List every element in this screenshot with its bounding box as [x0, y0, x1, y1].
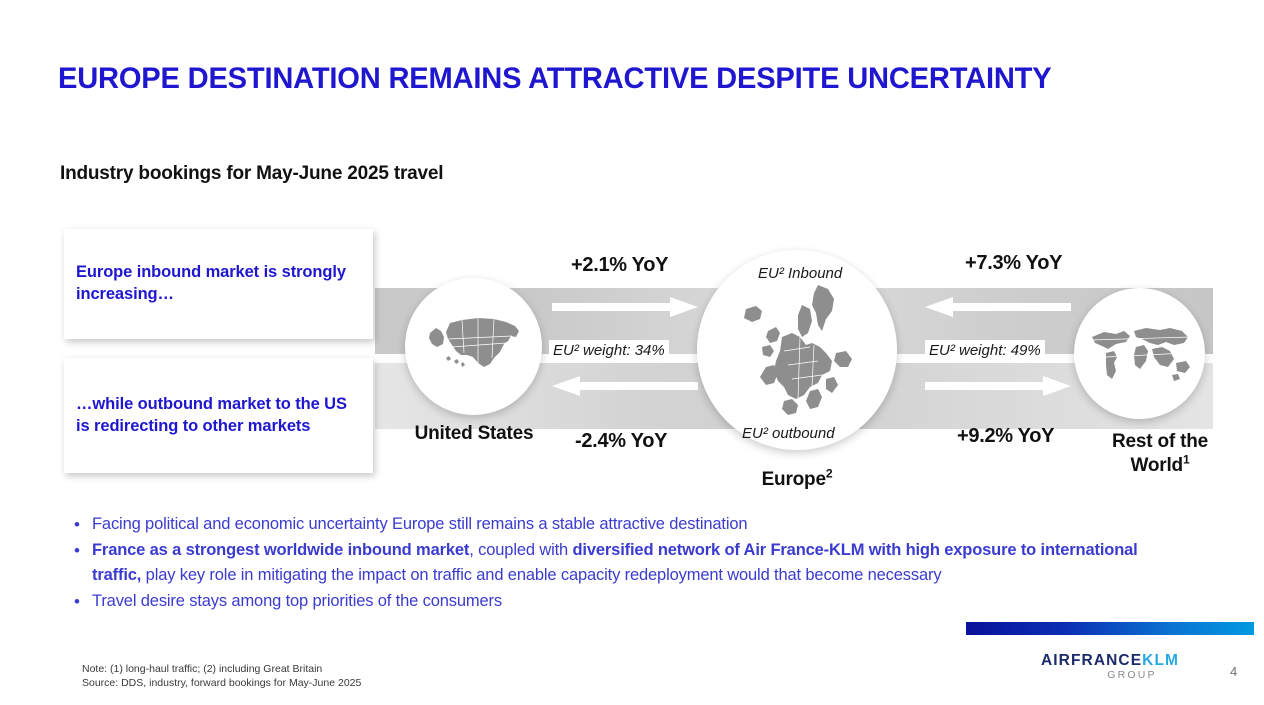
logo-airfrance-text: AIRFRANCE — [1041, 652, 1142, 669]
flow-weight-row-europe: EU² weight: 49% — [925, 340, 1045, 361]
brand-gradient-bar — [966, 622, 1254, 635]
footnote-note: Note: (1) long-haul traffic; (2) includi… — [82, 662, 361, 676]
node-label-europe-text: Europe — [762, 469, 826, 490]
node-label-row-sup: 1 — [1183, 453, 1190, 467]
flow-yoy-europe-to-row: +9.2% YoY — [957, 425, 1054, 448]
logo-wordmark: AIRFRANCEKLM — [966, 652, 1254, 670]
flow-yoy-us-to-europe: +2.1% YoY — [571, 254, 668, 277]
flow-yoy-europe-to-us: -2.4% YoY — [575, 430, 667, 453]
logo-group-text: GROUP — [966, 669, 1254, 681]
airfrance-klm-logo: AIRFRANCEKLM GROUP — [966, 652, 1254, 681]
node-label-europe-sup: 2 — [826, 467, 833, 481]
bullet-segment: Travel desire stays among top priorities… — [92, 592, 502, 610]
arrow-right-icon — [552, 297, 698, 311]
callout-outbound: …while outbound market to the US is redi… — [64, 358, 373, 473]
bullet-dot-icon: • — [62, 589, 92, 614]
bullet-emphasis: France as a strongest worldwide inbound … — [92, 541, 469, 559]
logo-klm-text: KLM — [1142, 652, 1179, 669]
node-label-europe: Europe2 — [712, 468, 882, 492]
list-item: • France as a strongest worldwide inboun… — [62, 538, 1182, 588]
list-item: • Travel desire stays among top prioriti… — [62, 589, 1182, 614]
node-united-states — [405, 278, 542, 415]
usa-map-icon — [420, 311, 528, 383]
europe-map-icon — [722, 275, 872, 425]
world-map-icon — [1086, 323, 1194, 385]
section-subtitle: Industry bookings for May-June 2025 trav… — [60, 163, 443, 185]
europe-outbound-label: EU² outbound — [742, 425, 835, 442]
footnote-source: Source: DDS, industry, forward bookings … — [82, 676, 361, 690]
footnotes: Note: (1) long-haul traffic; (2) includi… — [82, 662, 361, 691]
callout-inbound-text: Europe inbound market is strongly increa… — [76, 262, 355, 306]
arrow-left-icon — [552, 376, 698, 390]
callout-outbound-text: …while outbound market to the US is redi… — [76, 394, 355, 438]
bullet-text: Travel desire stays among top priorities… — [92, 589, 1182, 614]
arrow-left-icon — [925, 297, 1071, 311]
europe-inbound-label: EU² Inbound — [758, 265, 842, 282]
bullet-dot-icon: • — [62, 538, 92, 563]
node-label-united-states: United States — [398, 422, 550, 446]
page-number: 4 — [1230, 664, 1237, 679]
bullet-text: Facing political and economic uncertaint… — [92, 512, 1182, 537]
page-title: EUROPE DESTINATION REMAINS ATTRACTIVE DE… — [58, 62, 1174, 96]
node-label-rest-of-world: Rest of the World1 — [1080, 430, 1240, 479]
node-rest-of-world — [1074, 288, 1205, 419]
bullet-segment: , coupled with — [469, 541, 572, 559]
node-label-row-text: Rest of the World — [1112, 431, 1208, 476]
bullet-text: France as a strongest worldwide inbound … — [92, 538, 1182, 588]
bullet-segment: play key role in mitigating the impact o… — [141, 566, 941, 584]
arrow-right-icon — [925, 376, 1071, 390]
bullet-list: • Facing political and economic uncertai… — [62, 512, 1182, 615]
flow-weight-us-europe: EU² weight: 34% — [549, 340, 669, 361]
bullet-dot-icon: • — [62, 512, 92, 537]
slide: EUROPE DESTINATION REMAINS ATTRACTIVE DE… — [0, 0, 1264, 705]
flow-yoy-row-to-europe: +7.3% YoY — [965, 252, 1062, 275]
bullet-segment: Facing political and economic uncertaint… — [92, 515, 747, 533]
callout-inbound: Europe inbound market is strongly increa… — [64, 229, 373, 339]
list-item: • Facing political and economic uncertai… — [62, 512, 1182, 537]
